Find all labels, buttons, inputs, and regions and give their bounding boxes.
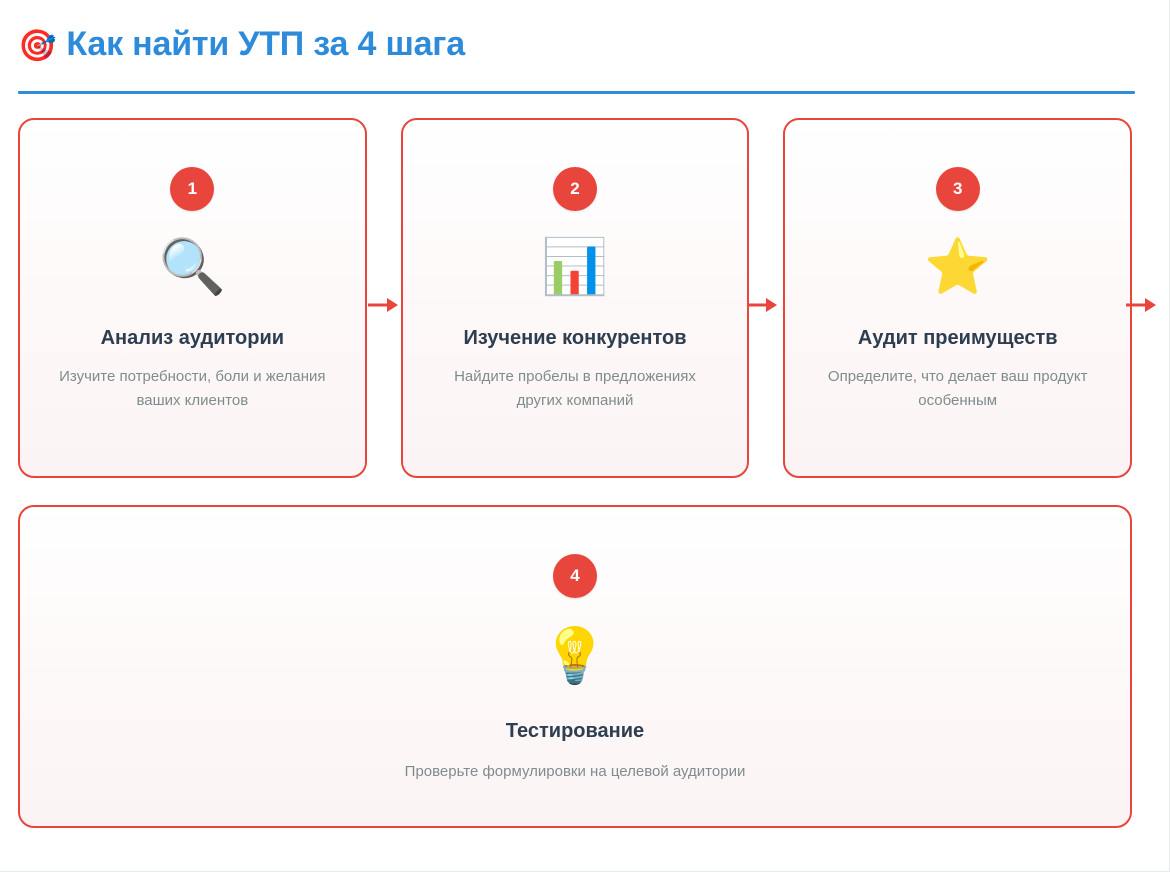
step-number-badge: 3 — [936, 167, 980, 211]
step-title: Тестирование — [506, 718, 644, 744]
bar-chart-icon: 📊 — [541, 237, 608, 297]
step-title: Анализ аудитории — [101, 325, 284, 351]
step-title: Изучение конкурентов — [463, 325, 686, 351]
title-divider — [18, 91, 1135, 94]
step-description: Изучите потребности, боли и желания ваши… — [21, 365, 363, 413]
page-title-text: Как найти УТП за 4 шага — [66, 22, 465, 66]
step-card-2[interactable]: 2 📊 Изучение конкурентов Найдите пробелы… — [401, 118, 750, 478]
step-number-badge: 1 — [170, 167, 214, 211]
step-number-badge: 4 — [553, 554, 597, 598]
page-frame: 🎯 Как найти УТП за 4 шага 1 🔍 Анализ ауд… — [0, 0, 1170, 872]
star-icon: ⭐ — [924, 237, 991, 297]
step-number-badge: 2 — [553, 167, 597, 211]
step-card-3[interactable]: 3 ⭐ Аудит преимуществ Определите, что де… — [783, 118, 1132, 478]
light-bulb-icon: 💡 — [541, 626, 608, 686]
step-description: Найдите пробелы в предложениях других ко… — [404, 365, 746, 413]
steps-row-bottom: 4 💡 Тестирование Проверьте формулировки … — [18, 505, 1132, 828]
step-card-1[interactable]: 1 🔍 Анализ аудитории Изучите потребности… — [18, 118, 367, 478]
steps-row-top: 1 🔍 Анализ аудитории Изучите потребности… — [18, 118, 1132, 478]
step-description: Определите, что делает ваш продукт особе… — [787, 365, 1129, 413]
page-title: 🎯 Как найти УТП за 4 шага — [18, 22, 1135, 66]
step-description: Проверьте формулировки на целевой аудито… — [379, 760, 772, 784]
step-card-4[interactable]: 4 💡 Тестирование Проверьте формулировки … — [18, 505, 1132, 828]
magnifying-glass-icon: 🔍 — [159, 237, 226, 297]
dart-target-icon: 🎯 — [18, 30, 56, 61]
step-title: Аудит преимуществ — [858, 325, 1058, 351]
page-header: 🎯 Как найти УТП за 4 шага — [18, 22, 1135, 97]
